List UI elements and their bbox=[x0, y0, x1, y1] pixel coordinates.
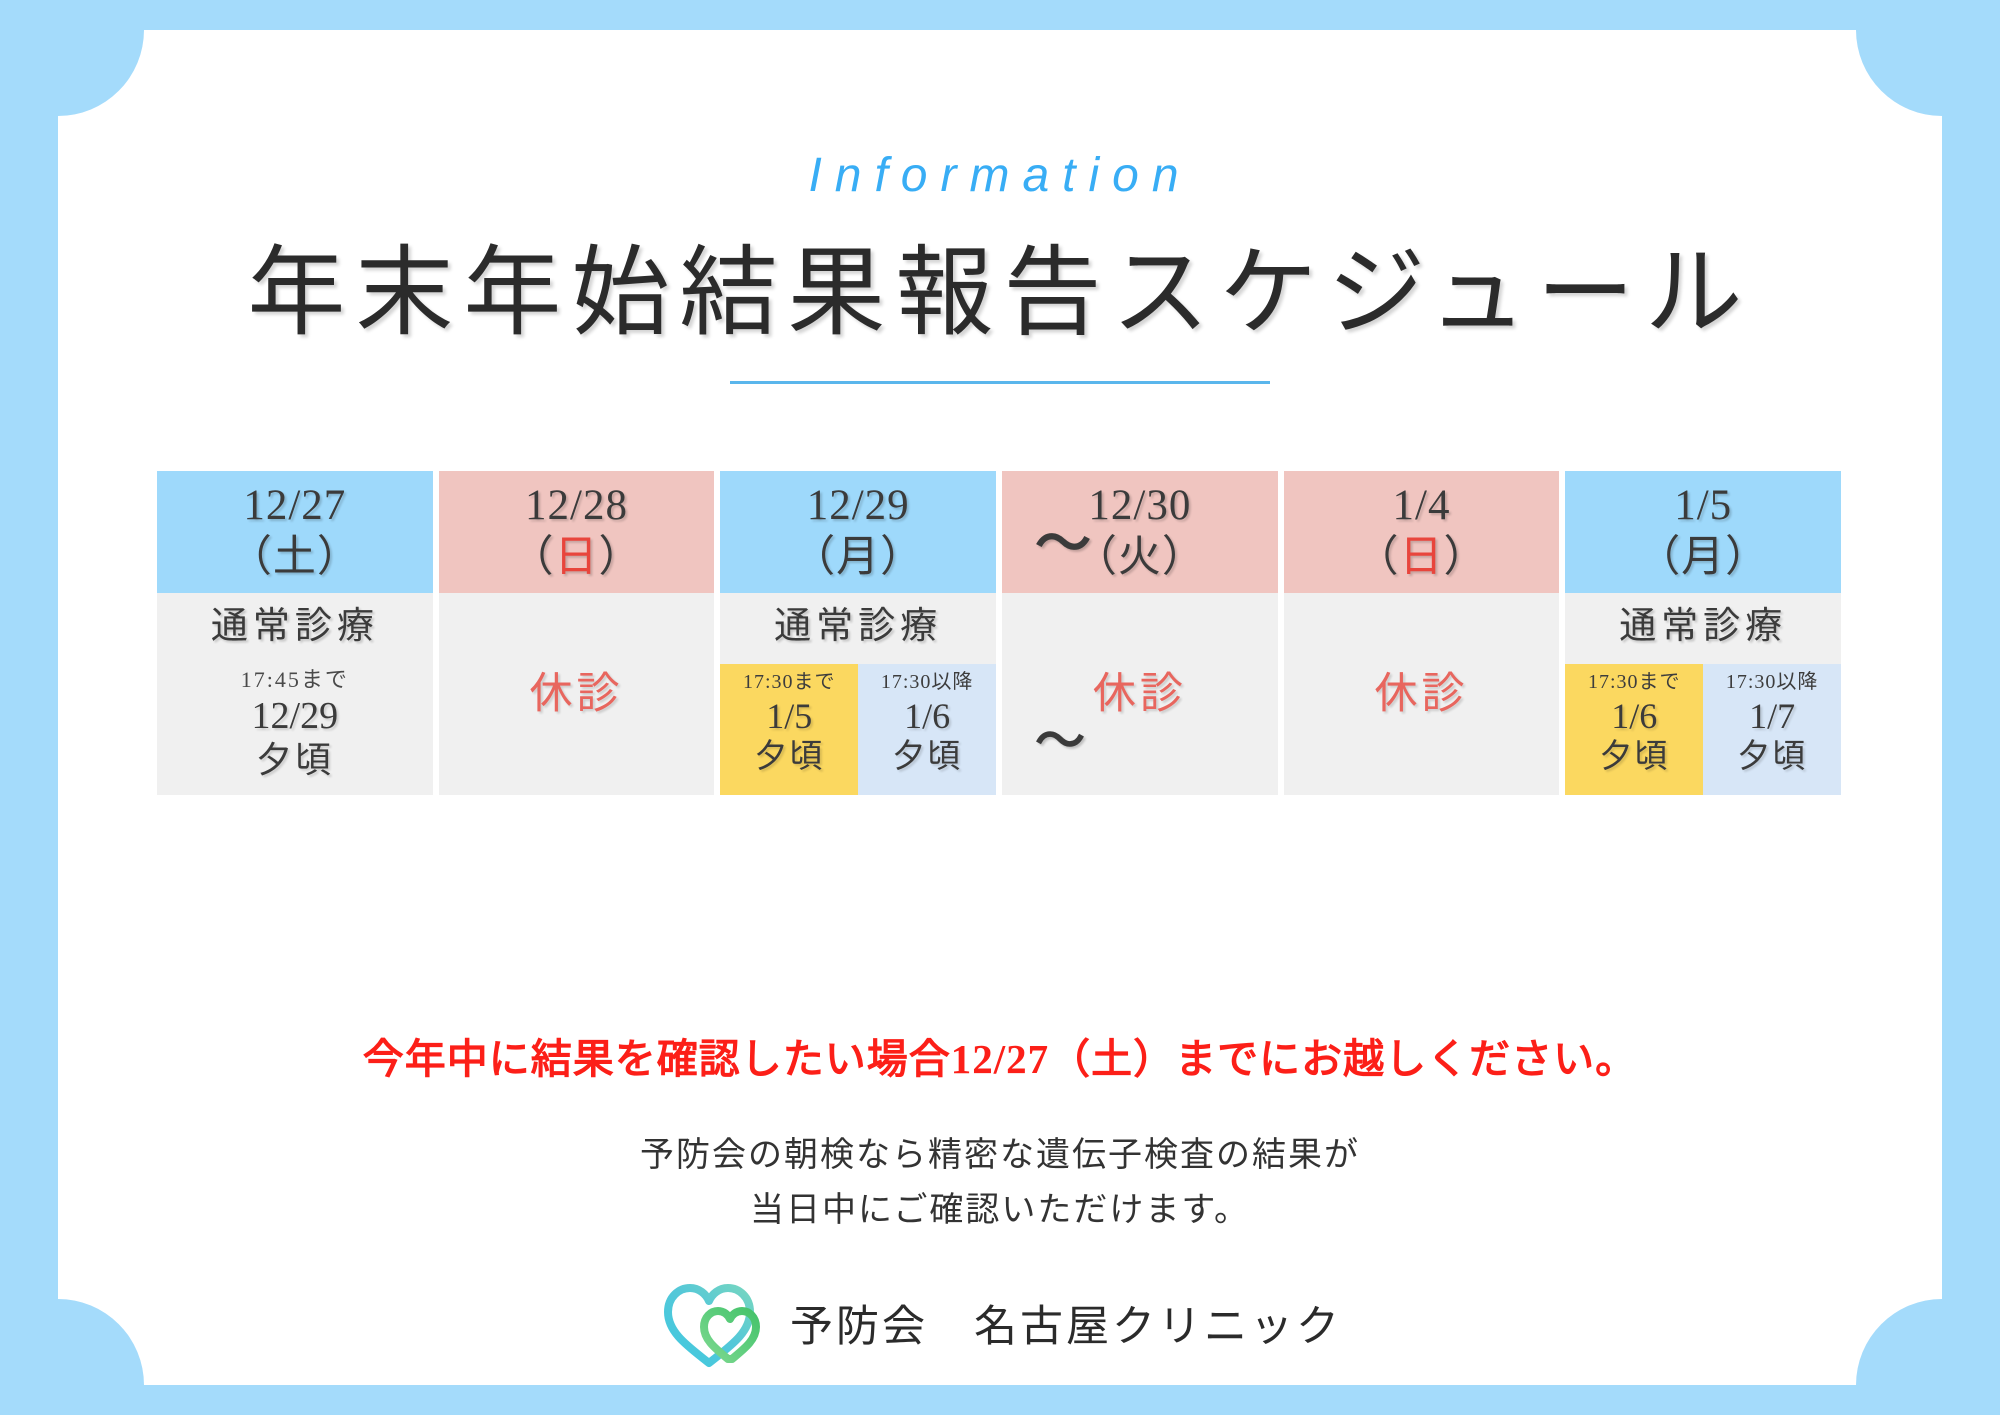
schedule-date-weekday: （土） bbox=[229, 532, 361, 584]
result-note: 17:45まで12/29夕頃 bbox=[157, 667, 433, 781]
schedule-date-header: 12/30（火） bbox=[1002, 471, 1278, 593]
sub-notice-line-2: 当日中にご確認いただけます。 bbox=[58, 1183, 1942, 1238]
schedule-date-number: 12/27 bbox=[243, 480, 346, 532]
schedule-column: 1/4（日）休診 bbox=[1284, 471, 1560, 795]
title-divider bbox=[730, 381, 1270, 384]
result-split-when: 夕頃 bbox=[1599, 738, 1669, 778]
schedule-body-cell: 休診 bbox=[1002, 593, 1278, 795]
schedule-column: 1/5（月）通常診療17:30まで1/6夕頃17:30以降1/7夕頃 bbox=[1565, 471, 1841, 795]
status-normal: 通常診療 bbox=[1619, 607, 1787, 648]
clinic-name: 予防会 名古屋クリニック bbox=[790, 1292, 1342, 1354]
result-split-date: 1/6 bbox=[904, 695, 950, 738]
information-eyebrow: Information bbox=[58, 152, 1942, 200]
status-closed: 休診 bbox=[530, 673, 624, 716]
clinic-footer: 予防会 名古屋クリニック bbox=[58, 1275, 1942, 1371]
schedule-column: 12/28（日）休診 bbox=[439, 471, 715, 795]
schedule-date-weekday: （日） bbox=[1356, 532, 1488, 584]
page-title: 年末年始結果報告スケジュール bbox=[58, 238, 1942, 351]
schedule-date-number: 12/30 bbox=[1088, 480, 1191, 532]
schedule-date-header: 1/4（日） bbox=[1284, 471, 1560, 593]
schedule-date-number: 1/4 bbox=[1393, 480, 1451, 532]
schedule-date-header: 12/28（日） bbox=[439, 471, 715, 593]
schedule-body-cell: 通常診療17:45まで12/29夕頃 bbox=[157, 593, 433, 795]
result-note-time: 17:45まで bbox=[157, 667, 433, 693]
schedule-date-number: 1/5 bbox=[1674, 480, 1732, 532]
result-split-cell: 17:30以降1/7夕頃 bbox=[1703, 664, 1841, 795]
header-block: Information 年末年始結果報告スケジュール bbox=[58, 30, 1942, 384]
status-normal: 通常診療 bbox=[211, 607, 379, 648]
schedule-column: 12/27（土）通常診療17:45まで12/29夕頃 bbox=[157, 471, 433, 795]
red-deadline-notice: 今年中に結果を確認したい場合12/27（土）までにお越しください。 bbox=[58, 1025, 1942, 1085]
schedule-date-header: 12/27（土） bbox=[157, 471, 433, 593]
schedule-date-weekday: （月） bbox=[792, 532, 924, 584]
schedule-body-cell: 通常診療17:30まで1/6夕頃17:30以降1/7夕頃 bbox=[1565, 593, 1841, 795]
double-heart-logo-icon bbox=[658, 1275, 776, 1371]
result-split-cell: 17:30以降1/6夕頃 bbox=[858, 664, 996, 795]
schedule-date-weekday: （日） bbox=[511, 532, 643, 584]
result-split-time: 17:30以降 bbox=[881, 670, 974, 695]
result-note-date: 12/29 bbox=[157, 694, 433, 739]
weekday-sunday-glyph: 日 bbox=[1400, 534, 1444, 581]
weekday-sunday-glyph: 日 bbox=[555, 534, 599, 581]
sub-notice-line-1: 予防会の朝検なら精密な遺伝子検査の結果が bbox=[58, 1128, 1942, 1183]
schedule-body-cell: 通常診療17:30まで1/5夕頃17:30以降1/6夕頃 bbox=[720, 593, 996, 795]
schedule-body-cell: 休診 bbox=[1284, 593, 1560, 795]
result-split-when: 夕頃 bbox=[754, 738, 824, 778]
result-split-when: 夕頃 bbox=[1737, 738, 1807, 778]
result-split-group: 17:30まで1/6夕頃17:30以降1/7夕頃 bbox=[1565, 664, 1841, 795]
result-split-date: 1/5 bbox=[766, 695, 812, 738]
schedule-date-header: 1/5（月） bbox=[1565, 471, 1841, 593]
result-split-cell: 17:30まで1/6夕頃 bbox=[1565, 664, 1703, 795]
status-closed: 休診 bbox=[1375, 673, 1469, 716]
status-closed: 休診 bbox=[1093, 673, 1187, 716]
schedule-body-cell: 休診 bbox=[439, 593, 715, 795]
schedule-date-header: 12/29（月） bbox=[720, 471, 996, 593]
result-split-date: 1/7 bbox=[1749, 695, 1795, 738]
poster-card: Information 年末年始結果報告スケジュール 12/27（土）通常診療1… bbox=[58, 30, 1942, 1385]
result-split-cell: 17:30まで1/5夕頃 bbox=[720, 664, 858, 795]
schedule-column: 12/30（火）休診 bbox=[1002, 471, 1278, 795]
result-split-time: 17:30まで bbox=[1588, 670, 1681, 695]
schedule-date-weekday: （火） bbox=[1074, 532, 1206, 584]
result-split-time: 17:30以降 bbox=[1726, 670, 1819, 695]
schedule-date-number: 12/29 bbox=[807, 480, 910, 532]
schedule-table: 12/27（土）通常診療17:45まで12/29夕頃12/28（日）休診12/2… bbox=[157, 471, 1841, 795]
result-split-date: 1/6 bbox=[1611, 695, 1657, 738]
schedule-column: 12/29（月）通常診療17:30まで1/5夕頃17:30以降1/6夕頃 bbox=[720, 471, 996, 795]
result-split-time: 17:30まで bbox=[743, 670, 836, 695]
result-split-when: 夕頃 bbox=[892, 738, 962, 778]
schedule-date-number: 12/28 bbox=[525, 480, 628, 532]
status-normal: 通常診療 bbox=[774, 607, 942, 648]
result-split-group: 17:30まで1/5夕頃17:30以降1/6夕頃 bbox=[720, 664, 996, 795]
schedule-date-weekday: （月） bbox=[1637, 532, 1769, 584]
result-note-when: 夕頃 bbox=[157, 739, 433, 781]
sub-notice: 予防会の朝検なら精密な遺伝子検査の結果が 当日中にご確認いただけます。 bbox=[58, 1128, 1942, 1238]
